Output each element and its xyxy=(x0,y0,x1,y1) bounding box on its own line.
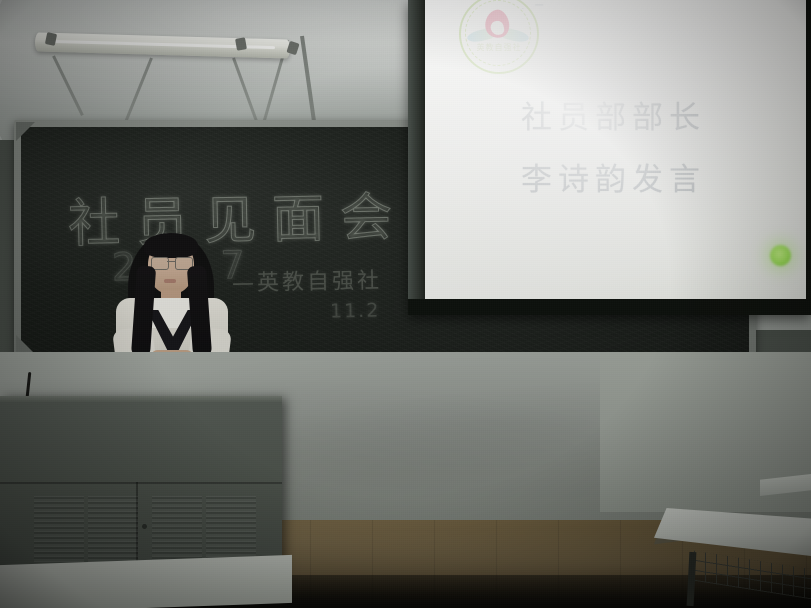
slide-line-1: 社员部部长 xyxy=(521,92,706,137)
podium-vent-panel xyxy=(88,496,138,562)
presenter-mouth xyxy=(164,279,176,283)
glasses-icon xyxy=(151,257,191,268)
light-end-cap xyxy=(235,37,247,51)
glasses-bridge xyxy=(167,261,175,262)
screen-bezel-bottom xyxy=(408,299,811,315)
podium-cabinet xyxy=(0,396,282,576)
blackboard-subtitle-text: —英教自强社 xyxy=(232,263,383,298)
desk-leg xyxy=(687,552,697,606)
student-desk xyxy=(654,498,811,608)
podium-top xyxy=(0,396,282,402)
slide-line-2: 李诗韵发言 xyxy=(521,154,706,199)
podium-vent-panel xyxy=(152,496,202,562)
desk-top xyxy=(654,508,811,556)
podium-vent-panel xyxy=(34,496,84,562)
logo-caption: 英教自强社 xyxy=(471,42,527,53)
slide-cut-text: · 二 xyxy=(521,0,641,9)
screen-surface: · 二 英教自强社 社员部部长 李诗韵发言 xyxy=(425,0,806,299)
laser-pointer-dot xyxy=(770,245,791,266)
blackboard-date-text: 11.2 xyxy=(330,300,381,323)
podium-front-desk xyxy=(0,555,292,608)
podium-vent-panel xyxy=(206,496,256,562)
presenter xyxy=(106,232,238,372)
podium-latch[interactable] xyxy=(142,524,147,529)
desk-basket xyxy=(694,551,811,600)
logo-inner: 英教自强社 xyxy=(461,0,537,72)
screen-bezel-left xyxy=(408,0,425,315)
club-logo: 英教自强社 xyxy=(459,0,539,74)
projector-screen: · 二 英教自强社 社员部部长 李诗韵发言 xyxy=(408,0,811,315)
classroom-photo: 社员见面会 2017 —英教自强社 11.2 · 二 xyxy=(0,0,811,608)
presenter-fringe xyxy=(144,233,198,258)
podium-seam xyxy=(0,482,282,484)
